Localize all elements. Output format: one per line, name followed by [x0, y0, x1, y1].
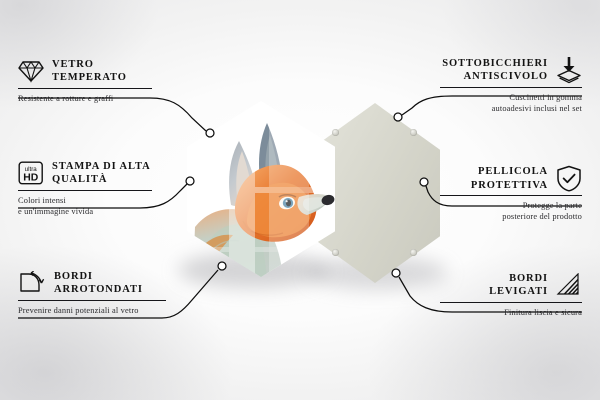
rubber-pad-bottom-left [332, 249, 339, 256]
feature-subtitle-line2: posteriore del prodotto [440, 211, 582, 222]
feature-divider [440, 195, 582, 196]
feature-header: VETRO TEMPERATO [18, 58, 152, 85]
rubber-pad-top-right [410, 129, 417, 136]
shield-check-icon [556, 165, 582, 192]
feature-header: SOTTOBICCHIERI ANTISCIVOLO [440, 56, 582, 84]
feature-vetro-temperato[interactable]: VETRO TEMPERATO Resistente a rotture e g… [18, 58, 152, 104]
feature-subtitle-line1: Resistente a rotture e graffi [18, 93, 152, 104]
feature-pellicola-protettiva[interactable]: PELLICOLA PROTETTIVA Protegge la parte p… [440, 165, 582, 222]
feature-divider [18, 300, 166, 301]
anti-slip-pad-icon [556, 56, 582, 84]
feature-header: PELLICOLA PROTETTIVA [440, 165, 582, 192]
feature-header: BORDI ARROTONDATI [18, 270, 166, 297]
feature-subtitle-line1: Colori intensi [18, 195, 152, 206]
feature-header: ultra HD STAMPA DI ALTA QUALITÀ [18, 160, 152, 187]
feature-title-line1: STAMPA DI ALTA [52, 160, 151, 173]
feature-subtitle-line1: Finitura liscia e sicura [440, 307, 582, 318]
product-feature-infographic: VETRO TEMPERATO Resistente a rotture e g… [0, 0, 600, 400]
polished-edge-icon [556, 273, 582, 297]
feature-title-line1: BORDI [54, 270, 143, 283]
rubber-pad-top-left [332, 129, 339, 136]
feature-title-line1: SOTTOBICCHIERI [442, 57, 548, 70]
feature-subtitle-line1: Cuscinetti in gomma [440, 92, 582, 103]
feature-divider [18, 190, 152, 191]
ultra-hd-icon: ultra HD [18, 160, 44, 186]
feature-header: BORDI LEVIGATI [440, 272, 582, 299]
svg-text:HD: HD [23, 173, 39, 184]
feature-divider [440, 302, 582, 303]
feature-title-line2: PROTETTIVA [471, 179, 548, 192]
feature-divider [440, 87, 582, 88]
feature-bordi-arrotondati[interactable]: BORDI ARROTONDATI Prevenire danni potenz… [18, 270, 166, 316]
feature-title-line2: TEMPERATO [52, 71, 127, 84]
rubber-pad-bottom-right [410, 249, 417, 256]
feature-subtitle-line2: autoadesivi inclusi nel set [440, 103, 582, 114]
feature-title-line2: ANTISCIVOLO [442, 70, 548, 83]
feature-divider [18, 88, 152, 89]
feature-subtitle-line1: Protegge la parte [440, 200, 582, 211]
feature-subtitle-line2: e un'immagine vivida [18, 206, 152, 217]
feature-title-line1: BORDI [489, 272, 548, 285]
feature-subtitle-line1: Prevenire danni potenziali al vetro [18, 305, 166, 316]
feature-title-line1: VETRO [52, 58, 127, 71]
rounded-corner-icon [18, 271, 46, 295]
feature-title-line2: LEVIGATI [489, 285, 548, 298]
feature-title-line2: QUALITÀ [52, 173, 151, 186]
feature-bordi-levigati[interactable]: BORDI LEVIGATI Finitura liscia e sicura [440, 272, 582, 318]
feature-sottobicchieri-antiscivolo[interactable]: SOTTOBICCHIERI ANTISCIVOLO Cuscinetti in… [440, 56, 582, 114]
diamond-icon [18, 59, 44, 83]
feature-stampa-alta-qualita[interactable]: ultra HD STAMPA DI ALTA QUALITÀ Colori i… [18, 160, 152, 217]
feature-title-line1: PELLICOLA [471, 165, 548, 178]
feature-title-line2: ARROTONDATI [54, 283, 143, 296]
corner-shading-bottom-left [0, 240, 240, 400]
